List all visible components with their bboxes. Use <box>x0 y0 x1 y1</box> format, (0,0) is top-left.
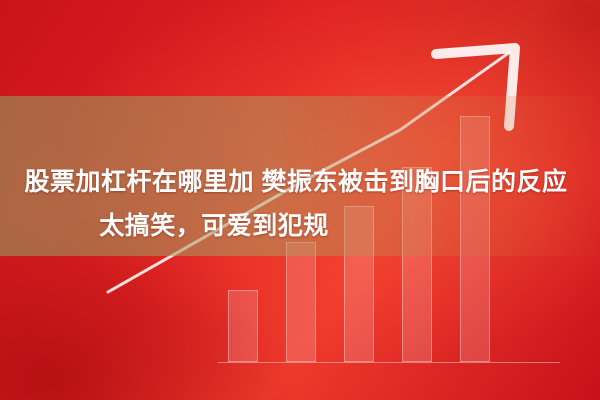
chart-baseline <box>218 362 560 363</box>
headline-backdrop-band <box>0 96 600 256</box>
promo-banner: 股票加杠杆在哪里加 樊振东被击到胸口后的反应 太搞笑，可爱到犯规 <box>0 0 600 400</box>
